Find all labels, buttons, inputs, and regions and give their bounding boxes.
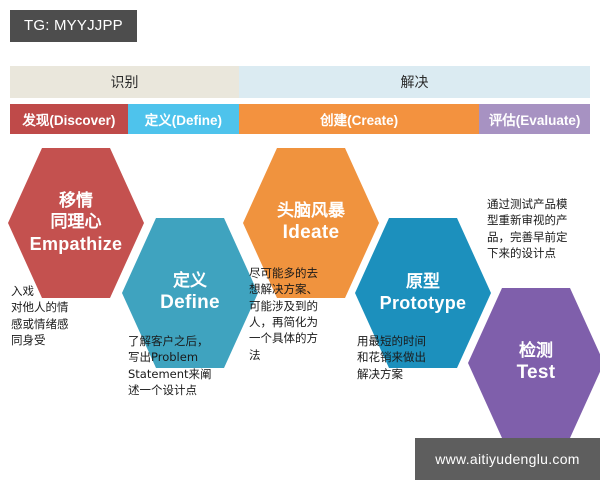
phase-cell-0: 识别 — [10, 66, 239, 98]
tg-badge: TG: MYYJJPP — [10, 10, 137, 42]
stage-band: 发现(Discover)定义(Define)创建(Create)评估(Evalu… — [10, 104, 590, 134]
test-caption: 通过测试产品模 型重新审视的产 品，完善早前定 下来的设计点 — [487, 196, 599, 261]
stage-cell-2: 创建(Create) — [239, 104, 479, 134]
hexagon-ideate-cn: 头脑风暴 — [277, 200, 345, 221]
stage-cell-3: 评估(Evaluate) — [479, 104, 590, 134]
phase-cell-1: 解决 — [239, 66, 590, 98]
hexagon-test: 检测Test — [468, 288, 600, 438]
hexagon-prototype-en: Prototype — [380, 292, 467, 315]
stage-cell-0: 发现(Discover) — [10, 104, 128, 134]
hexagon-empathize-cn: 移情 — [59, 190, 93, 211]
hexagon-test-en: Test — [517, 361, 556, 386]
phase-band: 识别解决 — [10, 66, 590, 98]
empathize-caption: 入戏 对他人的情 感或情绪感 同身受 — [11, 283, 121, 348]
hexagon-prototype-cn: 原型 — [406, 271, 440, 292]
define-caption: 了解客户之后， 写出Problem Statement来阐 述一个设计点 — [128, 333, 246, 398]
watermark-url: www.aitiyudenglu.com — [415, 438, 600, 480]
hexagon-ideate-en: Ideate — [283, 221, 340, 246]
hexagon-empathize-cn2: 同理心 — [51, 211, 102, 232]
hexagon-empathize-en: Empathize — [30, 233, 123, 256]
hexagon-define-cn: 定义 — [173, 270, 207, 291]
stage-cell-1: 定义(Define) — [128, 104, 239, 134]
hexagon-test-cn: 检测 — [519, 340, 553, 361]
prototype-caption: 用最短的时间 和花销来做出 解决方案 — [357, 333, 467, 382]
hexagon-define-en: Define — [160, 291, 220, 316]
hexagon-empathize: 移情同理心Empathize — [8, 148, 144, 298]
ideate-caption: 尽可能多的去 想解决方案、 可能涉及到的 人，再简化为 一个具体的方 法 — [249, 265, 353, 363]
